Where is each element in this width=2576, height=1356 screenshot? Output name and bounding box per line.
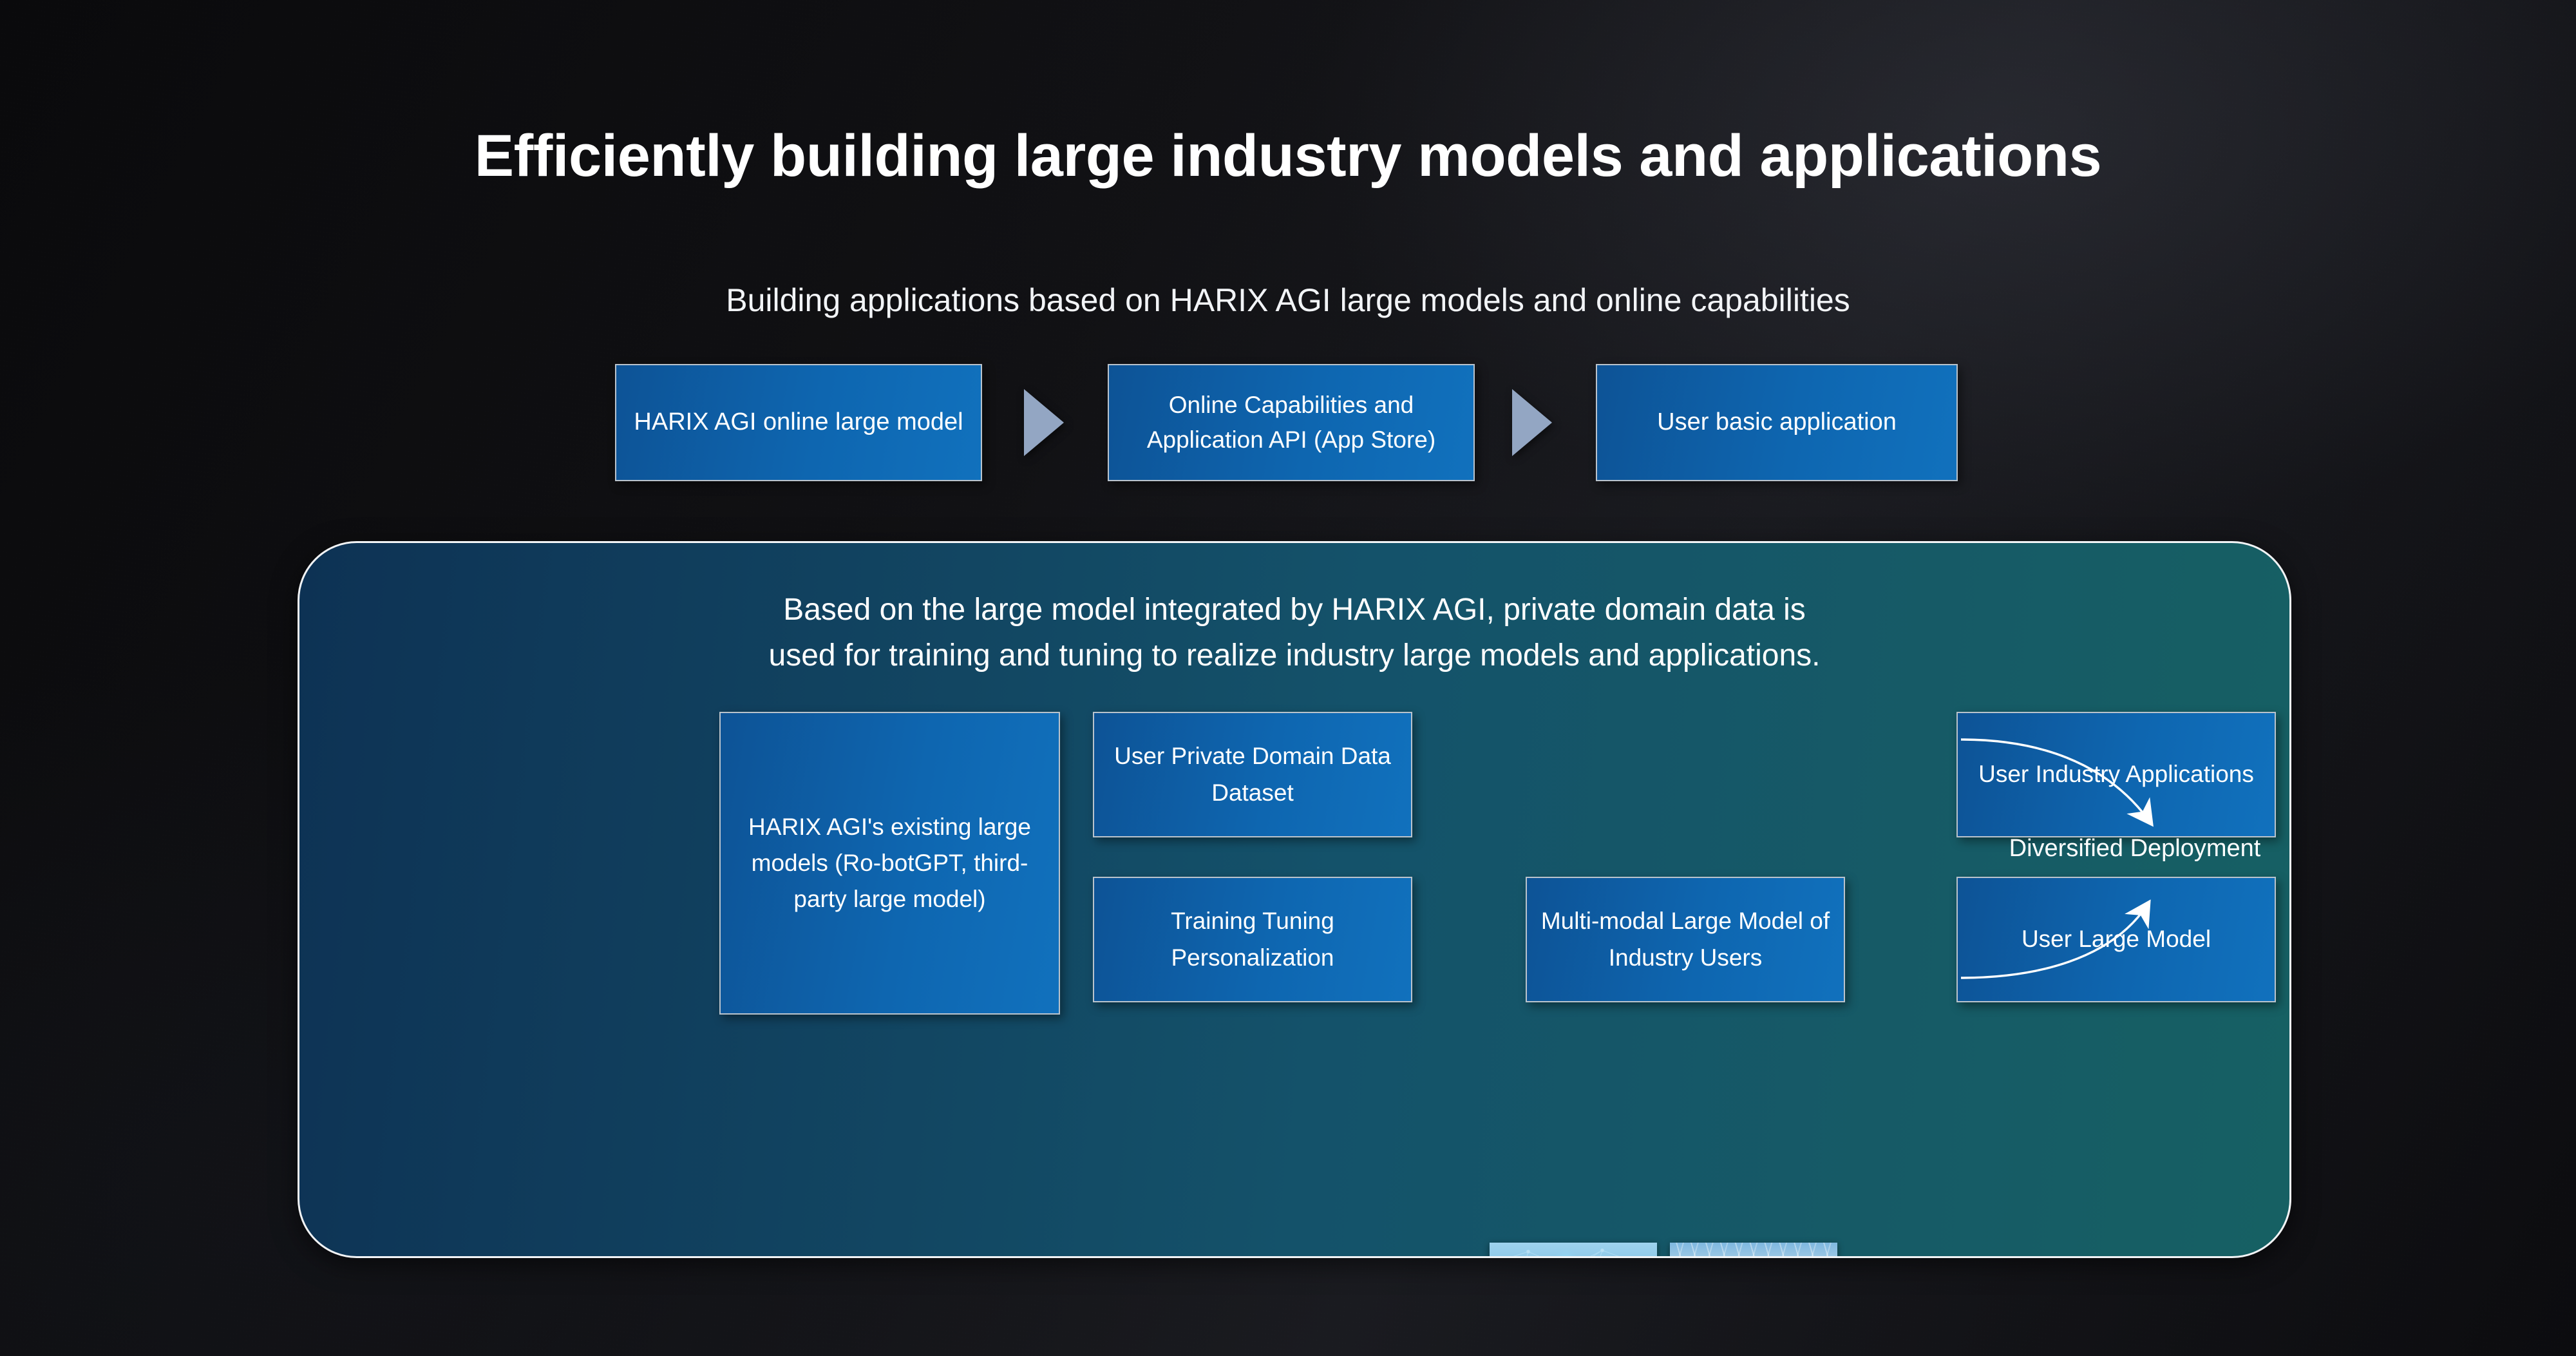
panel-box-label: User Private Domain Data Dataset — [1102, 738, 1403, 810]
panel-lead-line-2: used for training and tuning to realize … — [299, 633, 2289, 678]
panel-box-training-tuning[interactable]: Training Tuning Personalization — [1093, 877, 1412, 1002]
greenhouse-robots-image — [1670, 1243, 1837, 1258]
triangle-right-icon — [1512, 389, 1552, 456]
arrow-model-to-deployment — [1961, 903, 2148, 978]
deployment-label: Diversified Deployment — [1996, 835, 2273, 863]
panel-box-label: Multi-modal Large Model of Industry User… — [1535, 903, 1836, 975]
network-lines-icon — [1490, 1243, 1657, 1258]
panel-box-label: HARIX AGI's existing large models (Ro-bo… — [728, 809, 1051, 918]
flow-box-online-capabilities-api[interactable]: Online Capabilities and Application API … — [1108, 364, 1475, 481]
page-title: Efficiently building large industry mode… — [0, 122, 2576, 190]
panel-lead-text: Based on the large model integrated by H… — [299, 587, 2289, 678]
flow-box-label: HARIX AGI online large model — [634, 405, 963, 440]
panel-box-private-domain-dataset[interactable]: User Private Domain Data Dataset — [1093, 712, 1412, 837]
flow-box-label: Online Capabilities and Application API … — [1118, 388, 1464, 457]
city-skyline-network-image — [1490, 1243, 1657, 1258]
flow-box-user-basic-application[interactable]: User basic application — [1596, 364, 1958, 481]
arrow-apps-to-deployment — [1961, 740, 2151, 823]
thumbnail-smart-agriculture[interactable]: Smart Agriculture — [1670, 1243, 1837, 1258]
panel-box-label: Training Tuning Personalization — [1102, 903, 1403, 975]
flow-box-label: User basic application — [1657, 405, 1897, 440]
page-subtitle: Building applications based on HARIX AGI… — [0, 282, 2576, 319]
flow-box-harix-online-model[interactable]: HARIX AGI online large model — [615, 364, 982, 481]
panel-box-multimodal-large-model[interactable]: Multi-modal Large Model of Industry User… — [1526, 877, 1845, 1002]
panel-box-existing-large-models[interactable]: HARIX AGI's existing large models (Ro-bo… — [719, 712, 1060, 1015]
thumbnail-smart-culture-tourism[interactable]: Smart Culture and Tourism — [1490, 1243, 1681, 1258]
panel-lead-line-1: Based on the large model integrated by H… — [299, 587, 2289, 633]
triangle-right-icon — [1024, 389, 1064, 456]
